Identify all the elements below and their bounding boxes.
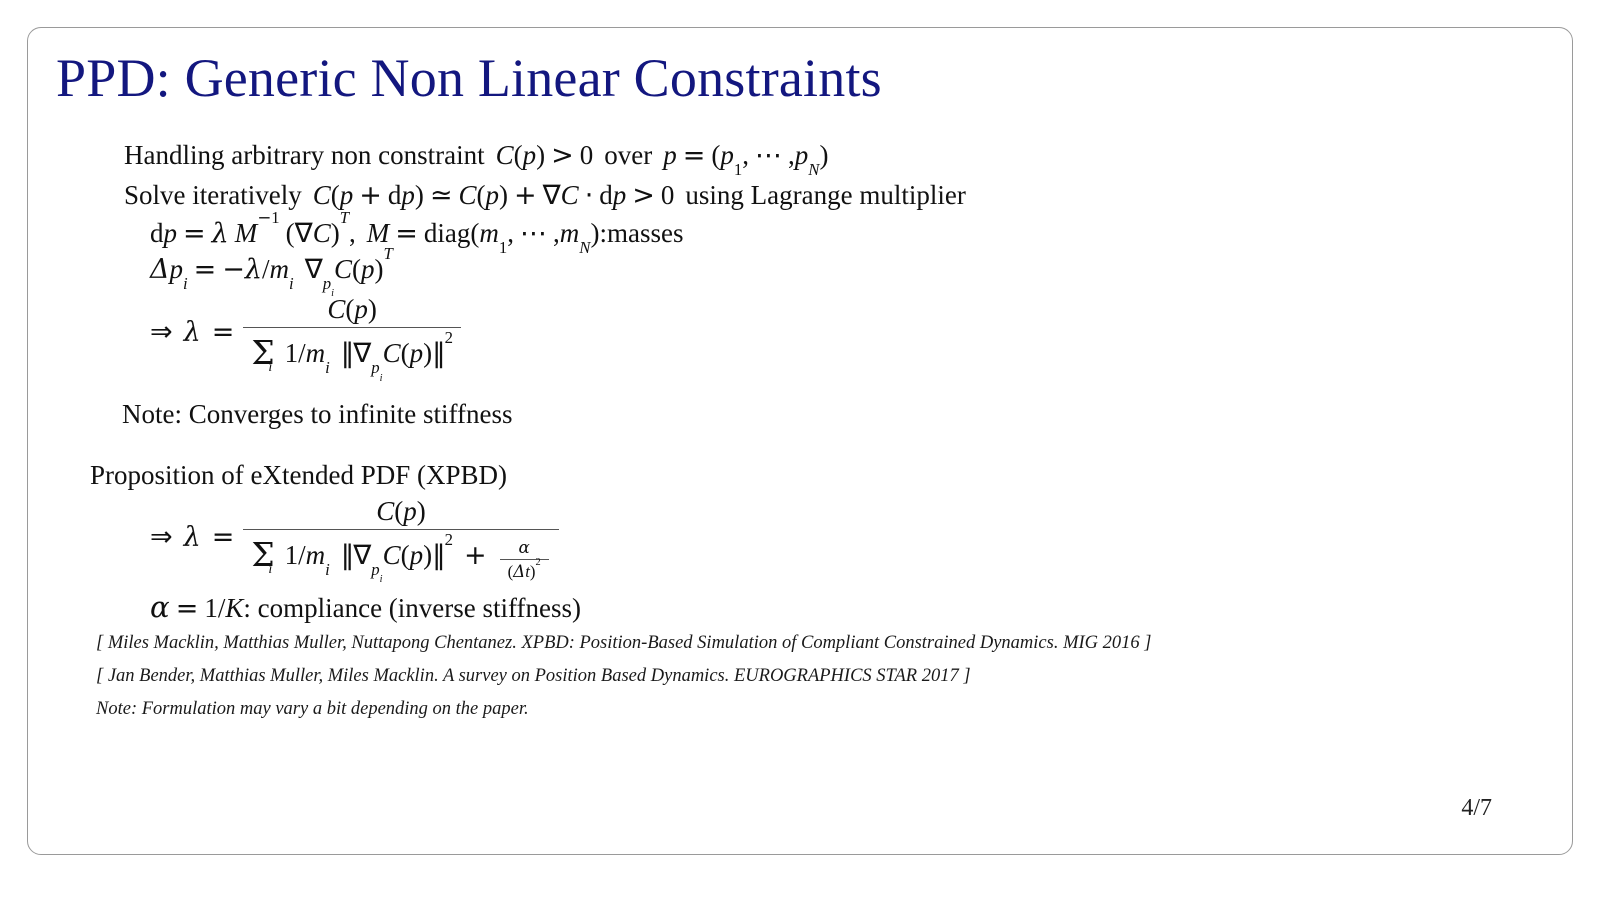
proposition-xpbd: Proposition of eXtended PDF (XPBD) [90,460,1538,491]
fraction-lambda-pbd: C(p)Σi1/mi‖∇piC(p)‖2 [243,294,461,371]
fraction-lambda-xpbd: C(p)Σi1/mi‖∇piC(p)‖2+α(Δt)2 [243,496,558,580]
fraction-denominator: (Δt)2 [500,559,549,582]
equation-dp-trailing: :masses [599,218,683,248]
equation-delta-p: Δpi=−λ/mi∇piC(p)T [150,252,1538,292]
statement-line-2-suffix: using Lagrange multiplier [685,180,965,210]
citation-item: [ Miles Macklin, Matthias Muller, Nuttap… [96,627,1538,660]
statement-line-1-prefix: Handling arbitrary non constraint [124,140,485,170]
equation-alpha-text: : compliance (inverse stiffness) [243,593,581,623]
fraction-numerator: α [500,537,549,559]
citation-item: Note: Formulation may vary a bit dependi… [96,693,1538,726]
statement-line-1: Handling arbitrary non constraintC(p)>0o… [124,136,1538,176]
fraction-denominator: Σi1/mi‖∇piC(p)‖2+α(Δt)2 [243,529,558,580]
equation-lambda-xpbd: ⇒λ=C(p)Σi1/mi‖∇piC(p)‖2+α(Δt)2 [150,491,1538,586]
equation-lambda-pbd: ⇒λ=C(p)Σi1/mi‖∇piC(p)‖2 [150,292,1538,378]
statement-line-2-prefix: Solve iteratively [124,180,302,210]
page-title: PPD: Generic Non Linear Constraints [56,50,882,107]
fraction-denominator: Σi1/mi‖∇piC(p)‖2 [243,327,461,371]
equation-alpha-compliance: α=1/K: compliance (inverse stiffness) [150,587,1538,627]
fraction-numerator: C(p) [243,294,461,327]
fraction-compliance-term: α(Δt)2 [500,537,549,582]
slide-body: Handling arbitrary non constraintC(p)>0o… [88,136,1538,726]
slide-frame: PPD: Generic Non Linear Constraints Hand… [27,27,1573,855]
citation-item: [ Jan Bender, Matthias Muller, Miles Mac… [96,660,1538,693]
statement-line-2: Solve iterativelyC(p+dp)≃C(p)+∇C·dp>0usi… [124,176,1538,216]
statement-line-1-mid: over [604,140,652,170]
fraction-numerator: C(p) [243,496,558,529]
math-C: C [496,140,514,170]
note-converges: Note: Converges to infinite stiffness [122,399,1538,430]
page-number: 4/7 [1461,795,1492,822]
equation-dp: dp=λM−1(∇C)T,M=diag(m1,⋯,mN):masses [150,216,1538,252]
